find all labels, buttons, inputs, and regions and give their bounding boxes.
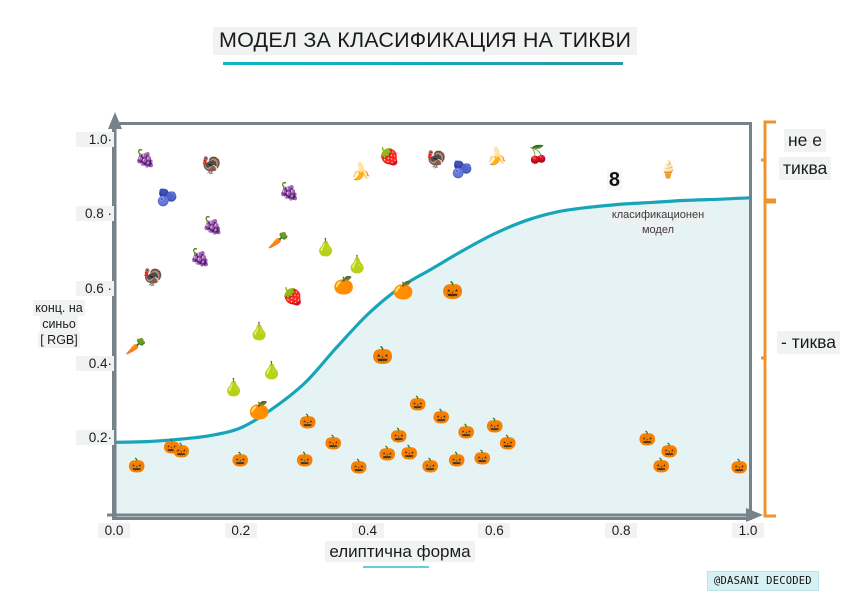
x-axis-label: елиптична форма — [300, 542, 500, 562]
data-point-not-pumpkin: 🍇 — [190, 249, 211, 266]
y-tick-label: 1.0· — [76, 132, 114, 147]
data-point-pumpkin: 🎃 — [499, 435, 516, 449]
x-axis-arrow — [105, 505, 765, 525]
data-point-not-pumpkin: 🦃 — [201, 157, 222, 174]
data-point-pumpkin: 🎃 — [458, 424, 475, 438]
x-tick-label: 0.4 — [352, 523, 384, 538]
data-point-pumpkin: 🎃 — [390, 428, 407, 442]
data-point-pumpkin: 🎃 — [401, 445, 418, 459]
data-point-not-pumpkin: 🎃 — [442, 282, 463, 299]
data-point-pumpkin: 🎃 — [639, 431, 656, 445]
title-text: МОДЕЛ ЗА КЛАСИФИКАЦИЯ НА ТИКВИ — [213, 27, 637, 55]
data-point-not-pumpkin: 🍐 — [261, 362, 282, 379]
data-point-not-pumpkin: 🍐 — [347, 256, 368, 273]
data-point-pumpkin: 🎃 — [730, 459, 747, 473]
data-point-not-pumpkin: 🍇 — [278, 183, 299, 200]
data-point-pumpkin: 🎃 — [296, 452, 313, 466]
data-point-pumpkin: 🎃 — [173, 443, 190, 457]
title-underline — [223, 62, 623, 65]
curve-annotation: класификационен модел — [592, 208, 724, 238]
plot-area: 🍇🫐🦃🍇🍓🦃🫐🍌🍒8🍦🍌🍇🍇🦃🥕🍐🍐🍊🍓🍊🎃🥕🍐🍐🍐🎃🍊🎃🎃🎃🎃🎃🎃🎃🎃🎃🎃🎃🎃… — [112, 122, 752, 520]
data-point-pumpkin: 🎃 — [448, 452, 465, 466]
data-point-pumpkin: 🎃 — [422, 458, 439, 472]
pumpkin-bracket — [760, 200, 780, 520]
data-point-not-pumpkin: 🥕 — [268, 232, 289, 249]
y-axis-label-line2: синьо — [40, 316, 78, 332]
data-point-not-pumpkin: 🍇 — [202, 217, 223, 234]
pumpkin-label: - тиква — [777, 331, 840, 354]
data-point-not-pumpkin: 🍐 — [223, 379, 244, 396]
page-title: МОДЕЛ ЗА КЛАСИФИКАЦИЯ НА ТИКВИ — [213, 27, 633, 55]
data-point-pumpkin: 🎃 — [474, 450, 491, 464]
data-point-not-pumpkin: 🍊 — [333, 277, 354, 294]
data-point-pumpkin: 🎃 — [379, 446, 396, 460]
not-pumpkin-bracket — [760, 120, 780, 202]
x-axis-label-underline — [363, 566, 429, 568]
data-point-not-pumpkin: 🍊 — [393, 282, 414, 299]
y-tick-label: 0.2· — [76, 430, 114, 445]
data-point-not-pumpkin: 🦃 — [143, 269, 164, 286]
x-axis-label-text: елиптична форма — [325, 541, 474, 562]
y-tick-label: 0.6 · — [76, 281, 114, 296]
data-point-marker-8: 8 — [607, 170, 622, 190]
data-point-not-pumpkin: 🍐 — [249, 323, 270, 340]
curve-annotation-line1: класификационен — [610, 208, 706, 223]
data-point-not-pumpkin: 🍐 — [315, 239, 336, 256]
data-point-not-pumpkin: 🍊 — [249, 402, 270, 419]
data-point-pumpkin: 🎃 — [350, 459, 367, 473]
not-pumpkin-label-line2: тиква — [779, 157, 831, 180]
data-point-pumpkin: 🎃 — [433, 409, 450, 423]
y-tick-label: 0.4· — [76, 356, 114, 371]
data-point-not-pumpkin: 🍓 — [282, 288, 303, 305]
data-point-not-pumpkin: 🍒 — [528, 146, 549, 163]
data-point-not-pumpkin: 🎃 — [372, 347, 393, 364]
y-axis-label-line1: конц. на — [33, 300, 84, 316]
y-tick-label: 0.8 · — [76, 206, 114, 221]
y-axis-arrow — [105, 110, 125, 520]
data-point-not-pumpkin: 🫐 — [452, 161, 473, 178]
data-point-not-pumpkin: 🍌 — [350, 163, 371, 180]
y-axis-label: конц. на синьо [ RGB] — [16, 300, 102, 348]
data-point-not-pumpkin: 🍦 — [658, 161, 679, 178]
data-point-not-pumpkin: 🍌 — [486, 148, 507, 165]
data-point-not-pumpkin: 🫐 — [157, 189, 178, 206]
data-point-not-pumpkin: 🍇 — [135, 150, 156, 167]
data-point-not-pumpkin: 🍓 — [379, 148, 400, 165]
watermark: @DASANI DECODED — [707, 571, 819, 591]
data-point-pumpkin: 🎃 — [128, 458, 145, 472]
data-point-pumpkin: 🎃 — [653, 458, 670, 472]
y-axis-label-line3: [ RGB] — [38, 332, 80, 348]
x-tick-label: 0.2 — [225, 523, 257, 538]
data-point-pumpkin: 🎃 — [486, 418, 503, 432]
data-point-pumpkin: 🎃 — [299, 414, 316, 428]
data-point-not-pumpkin: 🥕 — [125, 338, 146, 355]
data-point-not-pumpkin: 🦃 — [426, 151, 447, 168]
x-tick-label: 1.0 — [732, 523, 764, 538]
x-tick-label: 0.6 — [478, 523, 510, 538]
data-point-pumpkin: 🎃 — [232, 452, 249, 466]
x-tick-label: 0.0 — [98, 523, 130, 538]
data-point-pumpkin: 🎃 — [661, 443, 678, 457]
curve-annotation-line2: модел — [640, 223, 676, 238]
not-pumpkin-label-line1: не е — [784, 129, 826, 152]
x-tick-label: 0.8 — [605, 523, 637, 538]
data-point-pumpkin: 🎃 — [409, 396, 426, 410]
data-point-pumpkin: 🎃 — [325, 435, 342, 449]
chart-page: МОДЕЛ ЗА КЛАСИФИКАЦИЯ НА ТИКВИ 🍇🫐🦃🍇🍓🦃🫐🍌🍒… — [0, 0, 849, 600]
